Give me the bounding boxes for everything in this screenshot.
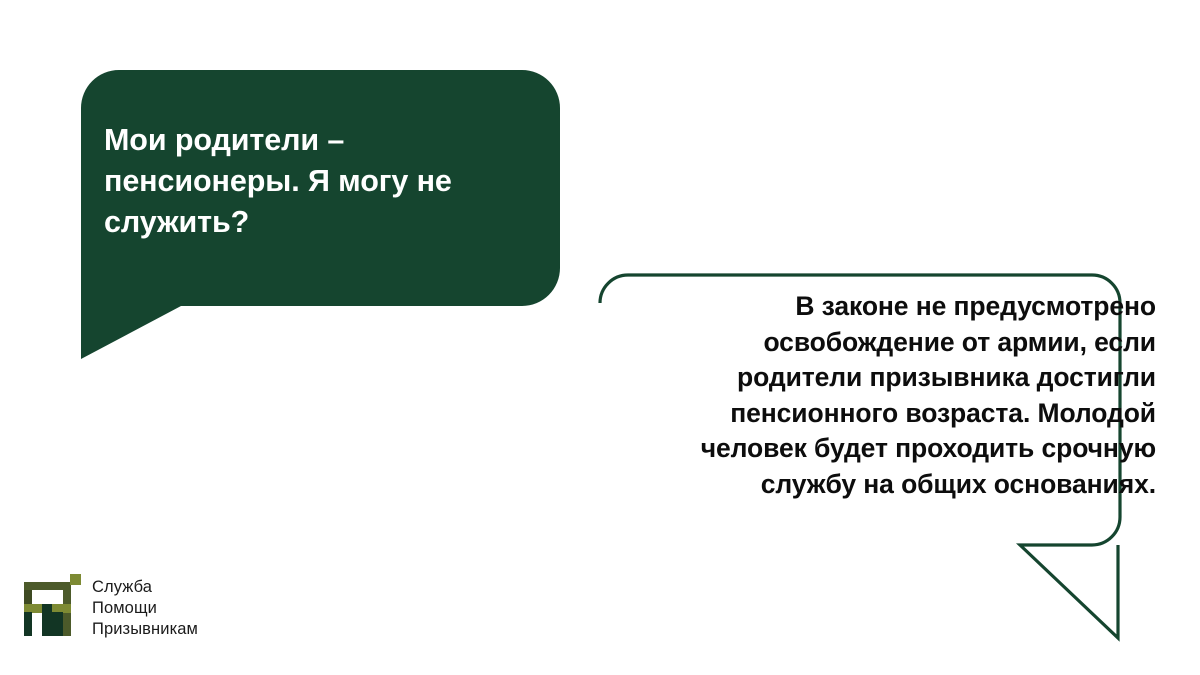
question-speech-bubble: Мои родители – пенсионеры. Я могу не слу… bbox=[0, 0, 600, 380]
organization-logo-icon bbox=[24, 574, 81, 636]
question-text: Мои родители – пенсионеры. Я могу не слу… bbox=[104, 120, 534, 243]
logo-line-3: Призывникам bbox=[92, 619, 198, 640]
answer-speech-bubble: В законе не предусмотрено освобождение о… bbox=[580, 255, 1200, 675]
logo-wordmark: Служба Помощи Призывникам bbox=[92, 574, 198, 640]
answer-text: В законе не предусмотрено освобождение о… bbox=[642, 289, 1156, 502]
logo-line-1: Служба bbox=[92, 577, 198, 598]
logo: Служба Помощи Призывникам bbox=[24, 574, 198, 640]
logo-line-2: Помощи bbox=[92, 598, 198, 619]
slide-canvas: Мои родители – пенсионеры. Я могу не слу… bbox=[0, 0, 1200, 675]
